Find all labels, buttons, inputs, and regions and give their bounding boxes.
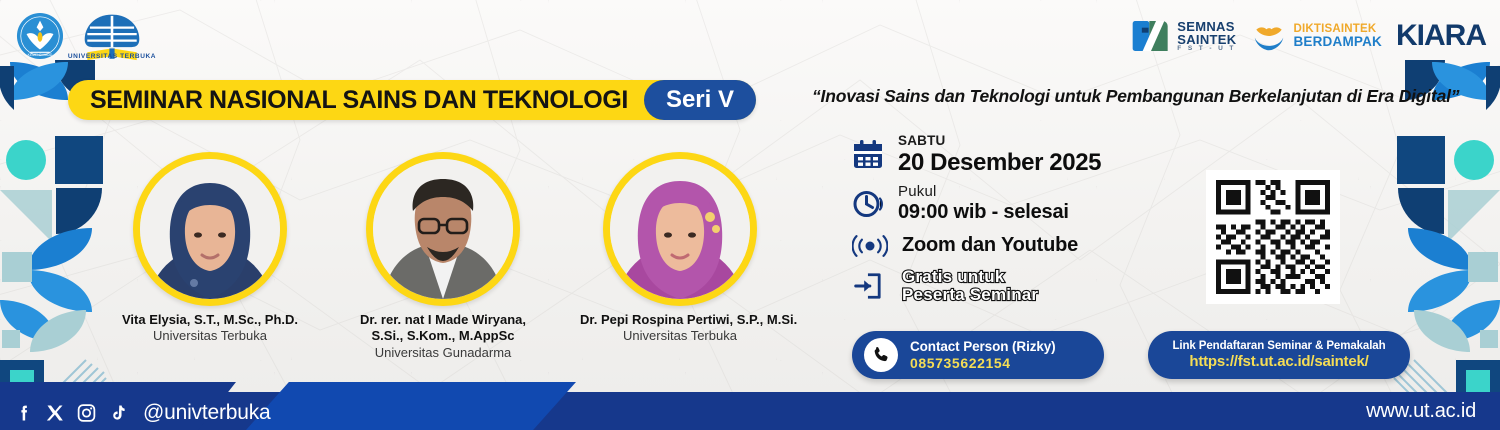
speaker-photo-ring-3 xyxy=(603,152,757,306)
speaker-card-2: Dr. rer. nat I Made Wiryana, S.Si., S.Ko… xyxy=(345,152,541,361)
speaker-card-3: Dr. Pepi Rospina Pertiwi, S.P., M.Si. Un… xyxy=(580,152,780,345)
event-platform-row: Zoom dan Youtube xyxy=(852,232,1101,260)
decorative-pattern-left xyxy=(0,0,120,430)
event-free-line2: Peserta Seminar xyxy=(902,286,1038,304)
kiara-logo: KIARA xyxy=(1396,19,1486,53)
speaker-photo-vita-elysia xyxy=(140,159,280,299)
registration-link-title: Link Pendaftaran Seminar & Pemakalah xyxy=(1172,340,1385,352)
page-title: SEMINAR NASIONAL SAINS DAN TEKNOLOGI xyxy=(90,80,644,120)
kemendikbud-garuda-logo: KEMENDIKBUD xyxy=(16,12,64,60)
footer-accent-shape-2 xyxy=(246,382,576,430)
event-details: SABTU 20 Desember 2025 Pukul 09:00 wib -… xyxy=(852,134,1101,312)
semnas-logo-line2: SAINTEK xyxy=(1177,33,1236,46)
social-handle: @univterbuka xyxy=(143,401,271,425)
contact-person-button[interactable]: Contact Person (Rizky) 085735622154 xyxy=(852,331,1104,379)
speaker-org-3: Universitas Terbuka xyxy=(580,328,780,345)
semnas-logo-line3: F S T - U T xyxy=(1177,46,1236,53)
calendar-icon xyxy=(852,139,898,171)
event-date: 20 Desember 2025 xyxy=(898,149,1101,177)
seminar-tagline: “Inovasi Sains dan Teknologi untuk Pemba… xyxy=(812,86,1492,107)
event-day-label: SABTU xyxy=(898,134,1101,149)
instagram-icon[interactable] xyxy=(76,402,97,424)
speaker-photo-i-made-wiryana xyxy=(373,159,513,299)
series-badge: Seri V xyxy=(644,80,756,120)
social-media-links: @univterbuka xyxy=(14,401,271,425)
university-logo-caption: UNIVERSITAS TERBUKA xyxy=(62,53,162,60)
speaker-name-1: Vita Elysia, S.T., M.Sc., Ph.D. xyxy=(110,312,310,328)
seminar-banner: KEMENDIKBUD UNIVERSITAS TERBUKA SEMNAS S… xyxy=(0,0,1500,430)
broadcast-icon xyxy=(852,232,898,260)
speaker-photo-ring-2 xyxy=(366,152,520,306)
x-twitter-icon[interactable] xyxy=(45,402,65,424)
contact-person-number: 085735622154 xyxy=(910,355,1056,372)
diktisaintek-berdampak-logo: DIKTISAINTEK BERDAMPAK xyxy=(1250,17,1382,55)
footer-website[interactable]: www.ut.ac.id xyxy=(1366,400,1476,423)
registration-link-url[interactable]: https://fst.ut.ac.id/saintek/ xyxy=(1189,353,1368,370)
speaker-name-2: Dr. rer. nat I Made Wiryana, S.Si., S.Ko… xyxy=(345,312,541,345)
event-date-row: SABTU 20 Desember 2025 xyxy=(852,134,1101,176)
event-free-line1: Gratis untuk xyxy=(902,268,1038,286)
registration-qr-code[interactable] xyxy=(1206,170,1340,304)
tiktok-icon[interactable] xyxy=(108,402,127,424)
dikti-logo-line2: BERDAMPAK xyxy=(1293,35,1382,49)
speaker-org-2: Universitas Gunadarma xyxy=(345,345,541,362)
clock-icon xyxy=(852,188,898,220)
semnas-mark-icon xyxy=(1131,16,1171,56)
diktisaintek-mark-icon xyxy=(1250,17,1288,55)
contact-person-title: Contact Person (Rizky) xyxy=(910,339,1056,355)
speaker-name-3: Dr. Pepi Rospina Pertiwi, S.P., M.Si. xyxy=(580,312,780,328)
speaker-card-1: Vita Elysia, S.T., M.Sc., Ph.D. Universi… xyxy=(110,152,310,345)
registration-link-button[interactable]: Link Pendaftaran Seminar & Pemakalah htt… xyxy=(1148,331,1410,379)
speaker-photo-pepi-rospina-pertiwi xyxy=(610,159,750,299)
event-free-row: Gratis untuk Peserta Seminar xyxy=(852,268,1101,304)
svg-text:KEMENDIKBUD: KEMENDIKBUD xyxy=(28,53,53,57)
semnas-logo-line1: SEMNAS xyxy=(1177,20,1236,33)
phone-icon xyxy=(864,338,898,372)
semnas-saintek-logo: SEMNAS SAINTEK F S T - U T xyxy=(1131,16,1236,56)
speaker-org-1: Universitas Terbuka xyxy=(110,328,310,345)
entry-door-icon xyxy=(852,271,898,301)
event-time-row: Pukul 09:00 wib - selesai xyxy=(852,184,1101,224)
facebook-icon[interactable] xyxy=(14,402,34,424)
seminar-title-bar: SEMINAR NASIONAL SAINS DAN TEKNOLOGI Ser… xyxy=(68,80,756,120)
partner-logos: SEMNAS SAINTEK F S T - U T DIKTISAINTEK … xyxy=(1131,14,1486,58)
event-time-label: Pukul xyxy=(898,184,1069,201)
event-time: 09:00 wib - selesai xyxy=(898,201,1069,224)
speaker-photo-ring-1 xyxy=(133,152,287,306)
event-platform: Zoom dan Youtube xyxy=(902,234,1078,257)
